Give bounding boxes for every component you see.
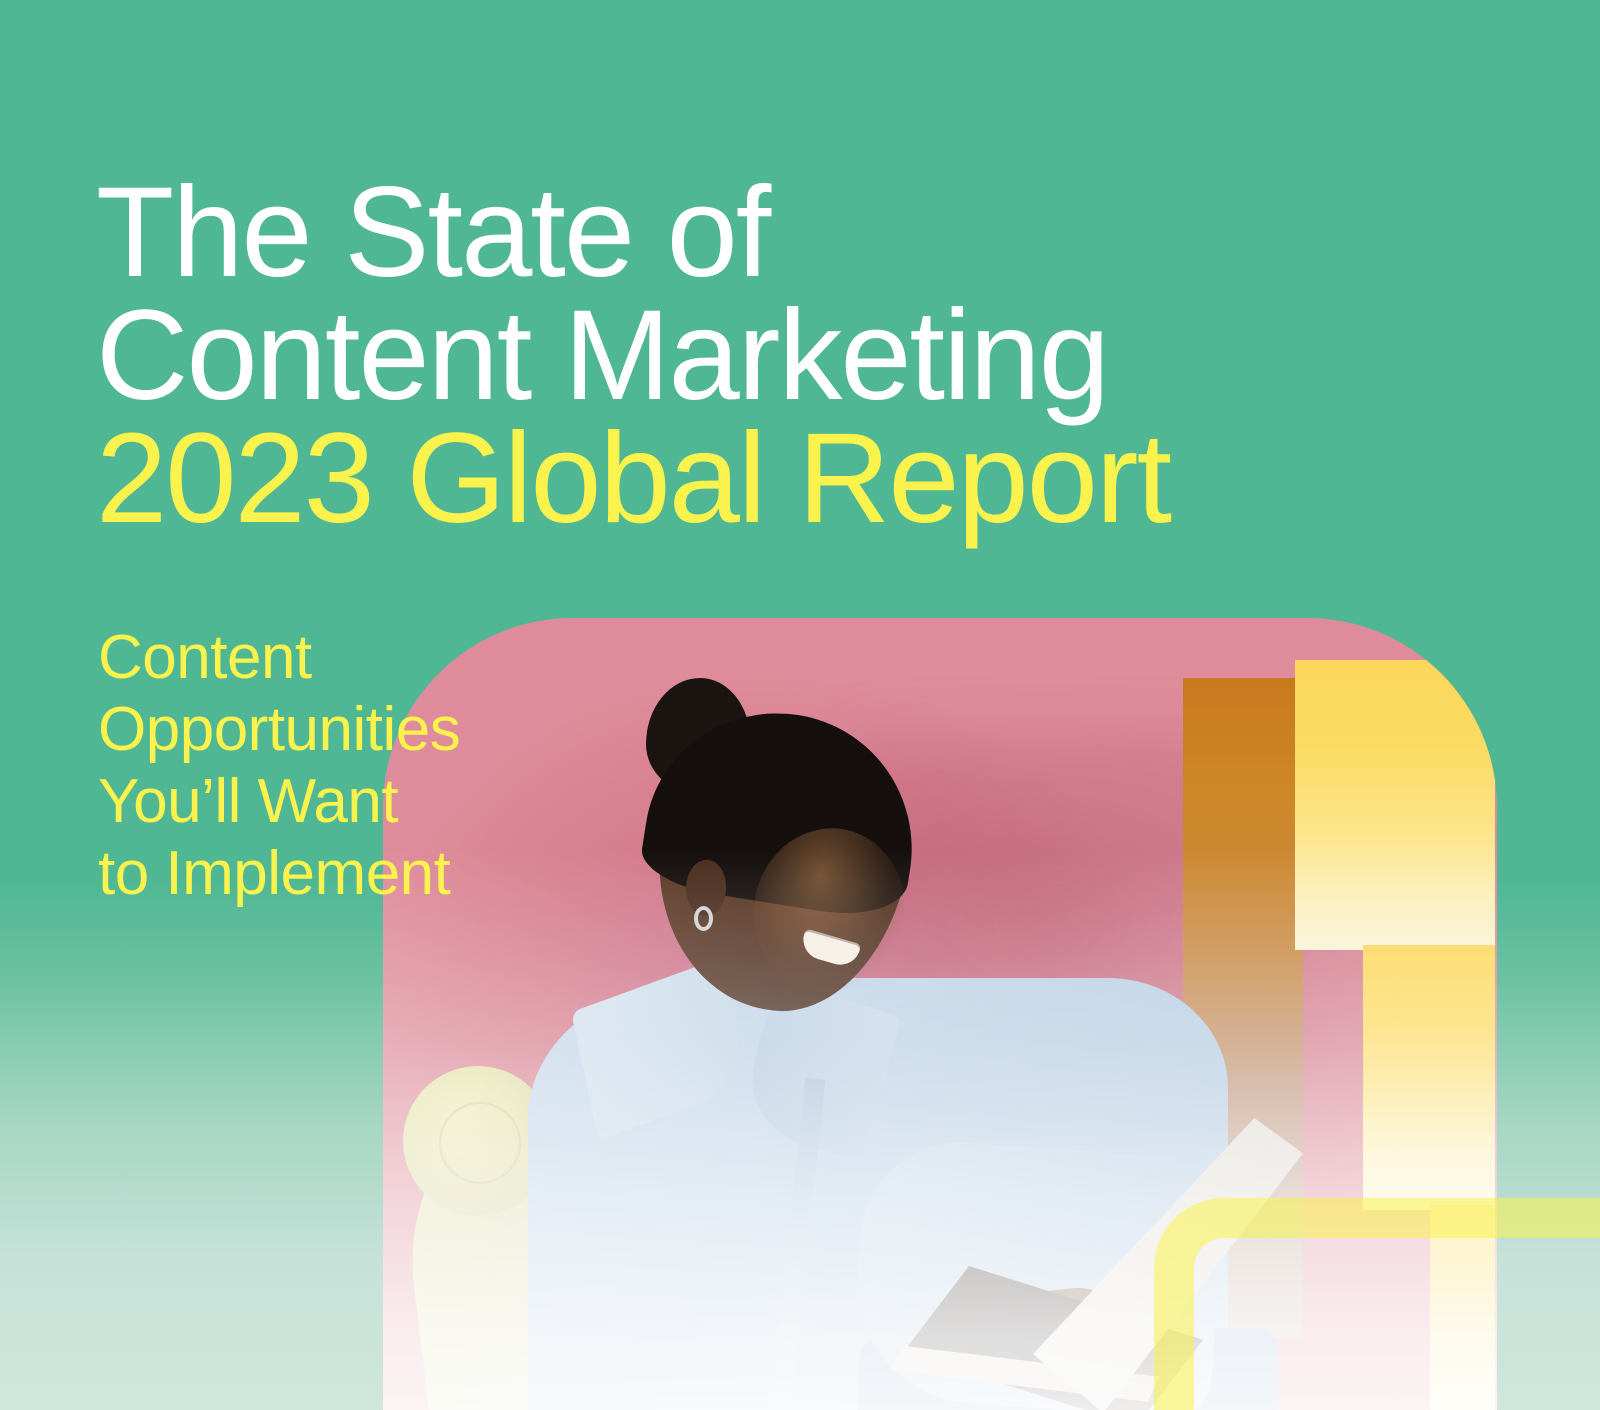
subtitle-line-4: to Implement	[98, 838, 738, 910]
report-cover: The State of Content Marketing 2023 Glob…	[0, 0, 1600, 1410]
subtitle-line-2: Opportunities	[98, 694, 738, 766]
cover-subtitle: Content Opportunities You’ll Want to Imp…	[98, 622, 738, 910]
sculpture-step-2	[1363, 945, 1495, 1210]
sculpture-step-3	[1430, 1205, 1495, 1410]
page-title: The State of Content Marketing 2023 Glob…	[96, 172, 1516, 541]
subtitle-line-3: You’ll Want	[98, 766, 738, 838]
headline-line-3: 2023 Global Report	[96, 418, 1516, 541]
sculpture-step-1	[1295, 660, 1495, 950]
yellow-stepped-sculpture	[1183, 660, 1493, 1360]
headline-line-2: Content Marketing	[96, 295, 1516, 418]
headline-line-1: The State of	[96, 172, 1516, 295]
earring	[694, 906, 713, 931]
subtitle-line-1: Content	[98, 622, 738, 694]
